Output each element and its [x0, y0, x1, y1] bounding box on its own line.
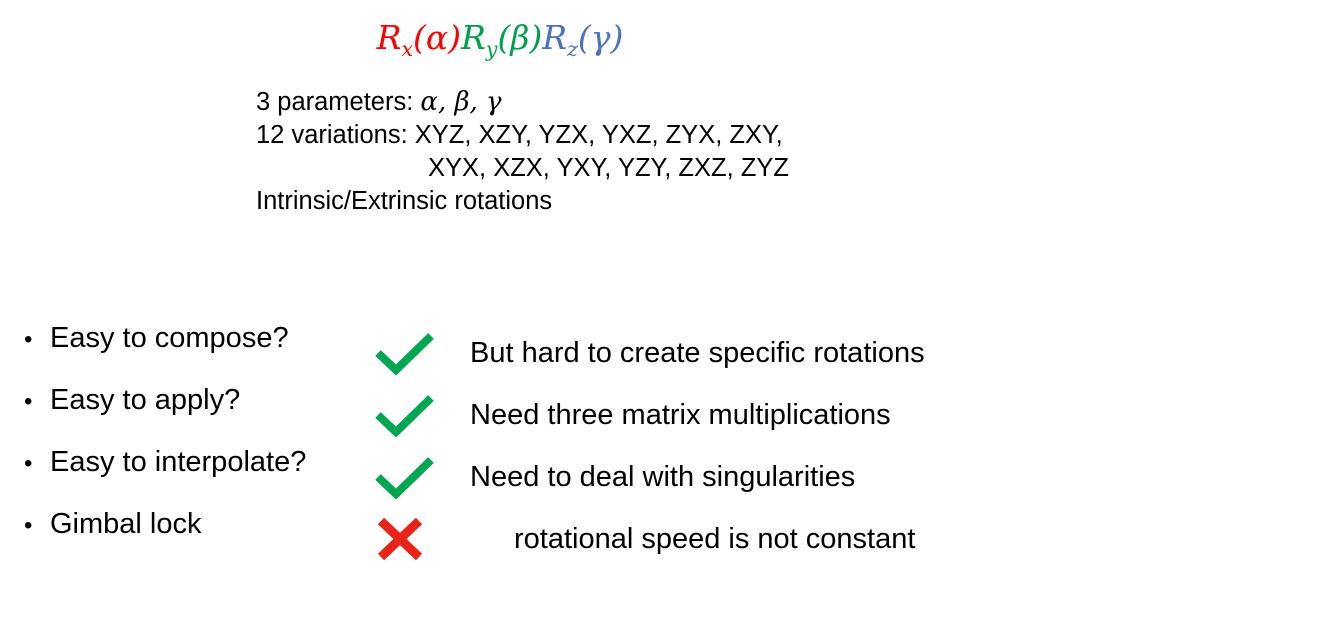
variations-label: 12 variations: [256, 121, 415, 149]
rx-argument: α [426, 18, 448, 57]
parameters-line: 3 parameters: α, β, γ [256, 86, 789, 119]
ry-term: Ry(β) [461, 18, 542, 57]
rz-term: Rz(γ) [542, 18, 623, 57]
cross-icon [374, 516, 426, 562]
list-item: • Easy to compose? [24, 322, 354, 384]
note-apply: Need three matrix multiplications [470, 384, 1310, 446]
status-mark-list [374, 322, 460, 570]
bullet-dot-icon: • [24, 390, 50, 414]
rx-term: Rx(α) [377, 18, 461, 57]
slide-canvas: Rx(α)Ry(β)Rz(γ) 3 parameters: α, β, γ 12… [0, 0, 1318, 631]
check-icon [374, 455, 436, 499]
info-block: 3 parameters: α, β, γ 12 variations: XYZ… [256, 86, 789, 218]
variations-line-2: XYX, XZX, YXY, YZY, ZXZ, ZYZ [256, 152, 789, 185]
status-mark-apply [374, 384, 460, 446]
bullet-label-compose: Easy to compose? [50, 322, 289, 355]
list-item: • Easy to apply? [24, 384, 354, 446]
list-item: • Gimbal lock [24, 508, 354, 570]
variations-line-1: 12 variations: XYZ, XZY, YZX, YXZ, ZYX, … [256, 119, 789, 152]
bullet-label-apply: Easy to apply? [50, 384, 240, 417]
note-interpolate: Need to deal with singularities [470, 446, 1310, 508]
rx-subscript: x [401, 37, 413, 61]
rotation-formula: Rx(α)Ry(β)Rz(γ) [0, 18, 1000, 57]
rz-subscript: z [567, 37, 578, 61]
bullet-dot-icon: • [24, 514, 50, 538]
note-rotational-speed: rotational speed is not constant [470, 508, 1310, 570]
bullet-label-interpolate: Easy to interpolate? [50, 446, 306, 479]
status-mark-interpolate [374, 446, 460, 508]
check-icon [374, 331, 436, 375]
variations-values-1: XYZ, XZY, YZX, YXZ, ZYX, ZXY, [415, 121, 783, 149]
status-mark-compose [374, 322, 460, 384]
bullet-dot-icon: • [24, 452, 50, 476]
note-compose: But hard to create specific rotations [470, 322, 1310, 384]
parameters-value: α, β, γ [420, 87, 501, 117]
bullet-list: • Easy to compose? • Easy to apply? • Ea… [24, 322, 354, 570]
comparison-columns: • Easy to compose? • Easy to apply? • Ea… [0, 322, 1318, 622]
rotations-line: Intrinsic/Extrinsic rotations [256, 185, 789, 218]
ry-subscript: y [486, 37, 498, 61]
list-item: • Easy to interpolate? [24, 446, 354, 508]
notes-list: But hard to create specific rotations Ne… [470, 322, 1310, 570]
bullet-label-gimbal-lock: Gimbal lock [50, 508, 202, 541]
parameters-label: 3 parameters: [256, 88, 420, 116]
rz-argument: γ [591, 18, 611, 57]
status-mark-gimbal-lock [374, 508, 460, 570]
bullet-dot-icon: • [24, 328, 50, 352]
ry-argument: β [510, 18, 529, 57]
check-icon [374, 393, 436, 437]
